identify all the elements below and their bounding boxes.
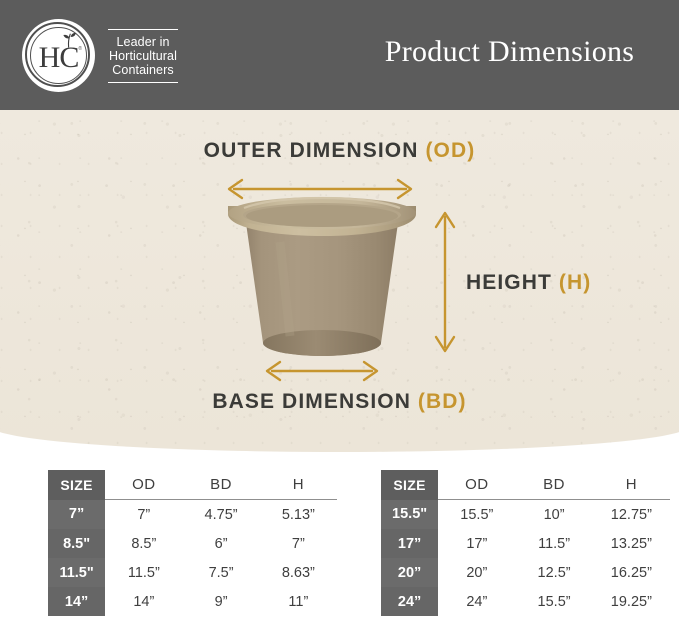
table-row: 17” 17” 11.5” 13.25” <box>381 529 670 558</box>
cell-bd: 6” <box>182 529 259 558</box>
cell-bd: 12.5” <box>515 558 592 587</box>
table-header-row: SIZE OD BD H <box>381 470 670 500</box>
cell-od: 8.5” <box>105 529 182 558</box>
tagline-rule-bottom <box>108 82 178 83</box>
diagram-panel: OUTER DIMENSION (OD) <box>0 110 679 455</box>
cell-h: 5.13” <box>260 500 337 530</box>
height-text: HEIGHT <box>466 271 552 294</box>
cell-size: 24” <box>381 587 438 616</box>
cell-size: 7” <box>48 500 105 530</box>
size-table-large: SIZE OD BD H 15.5" 15.5” 10” 12.75” 17” … <box>381 470 670 616</box>
cell-h: 7” <box>260 529 337 558</box>
trademark-symbol: ® <box>78 46 82 52</box>
cell-od: 7” <box>105 500 182 530</box>
cell-od: 17” <box>438 529 515 558</box>
column-header-h: H <box>593 470 670 500</box>
size-table-small: SIZE OD BD H 7” 7” 4.75” 5.13” 8.5" 8.5”… <box>48 470 337 616</box>
tagline-rule-top <box>108 29 178 30</box>
cell-size: 17” <box>381 529 438 558</box>
outer-dimension-label: OUTER DIMENSION (OD) <box>0 139 679 163</box>
cell-size: 15.5" <box>381 500 438 530</box>
page-title: Product Dimensions <box>340 0 679 110</box>
column-header-size: SIZE <box>381 470 438 500</box>
planter-pot-illustration <box>222 196 422 371</box>
height-arrow-icon <box>432 207 458 357</box>
column-header-bd: BD <box>515 470 592 500</box>
cell-h: 11” <box>260 587 337 616</box>
cell-bd: 11.5” <box>515 529 592 558</box>
column-header-od: OD <box>105 470 182 500</box>
cell-h: 12.75” <box>593 500 670 530</box>
cell-bd: 9” <box>182 587 259 616</box>
cell-h: 19.25” <box>593 587 670 616</box>
size-chart-region: SIZE OD BD H 7” 7” 4.75” 5.13” 8.5" 8.5”… <box>0 470 679 636</box>
cell-size: 8.5" <box>48 529 105 558</box>
column-header-size: SIZE <box>48 470 105 500</box>
header-band: HC ® Leader in Horticultural Containers … <box>0 0 679 110</box>
cell-bd: 15.5” <box>515 587 592 616</box>
height-label: HEIGHT (H) <box>466 271 591 295</box>
logo-monogram-text: HC <box>22 19 95 92</box>
table-row: 20” 20” 12.5” 16.25” <box>381 558 670 587</box>
base-dimension-label: BASE DIMENSION (BD) <box>0 390 679 414</box>
cell-od: 14” <box>105 587 182 616</box>
cell-od: 15.5” <box>438 500 515 530</box>
cell-od: 11.5” <box>105 558 182 587</box>
cell-h: 16.25” <box>593 558 670 587</box>
hc-logo-icon: HC ® <box>22 19 95 92</box>
cell-size: 20” <box>381 558 438 587</box>
base-dimension-text: BASE DIMENSION <box>212 390 411 413</box>
table-row: 24” 24” 15.5” 19.25” <box>381 587 670 616</box>
base-dimension-abbrev: (BD) <box>418 390 467 413</box>
cell-od: 20” <box>438 558 515 587</box>
table-row: 14” 14” 9” 11” <box>48 587 337 616</box>
outer-dimension-abbrev: (OD) <box>425 139 475 162</box>
table-row: 15.5" 15.5” 10” 12.75” <box>381 500 670 530</box>
column-header-od: OD <box>438 470 515 500</box>
column-header-bd: BD <box>182 470 259 500</box>
tagline-text: Leader in Horticultural Containers <box>108 35 178 77</box>
cell-size: 14” <box>48 587 105 616</box>
table-row: 11.5" 11.5” 7.5” 8.63” <box>48 558 337 587</box>
cell-bd: 10” <box>515 500 592 530</box>
brand-tagline: Leader in Horticultural Containers <box>108 24 178 88</box>
leaf-sprig-icon <box>60 32 78 53</box>
table-row: 7” 7” 4.75” 5.13” <box>48 500 337 530</box>
cell-size: 11.5" <box>48 558 105 587</box>
cell-h: 8.63” <box>260 558 337 587</box>
height-abbrev: (H) <box>559 271 591 294</box>
cell-h: 13.25” <box>593 529 670 558</box>
outer-dimension-text: OUTER DIMENSION <box>204 139 419 162</box>
brand-lockup: HC ® Leader in Horticultural Containers <box>22 19 178 92</box>
cell-od: 24” <box>438 587 515 616</box>
table-row: 8.5" 8.5” 6” 7” <box>48 529 337 558</box>
cell-bd: 7.5” <box>182 558 259 587</box>
cell-bd: 4.75” <box>182 500 259 530</box>
table-header-row: SIZE OD BD H <box>48 470 337 500</box>
column-header-h: H <box>260 470 337 500</box>
base-dimension-arrow-icon <box>258 358 386 384</box>
